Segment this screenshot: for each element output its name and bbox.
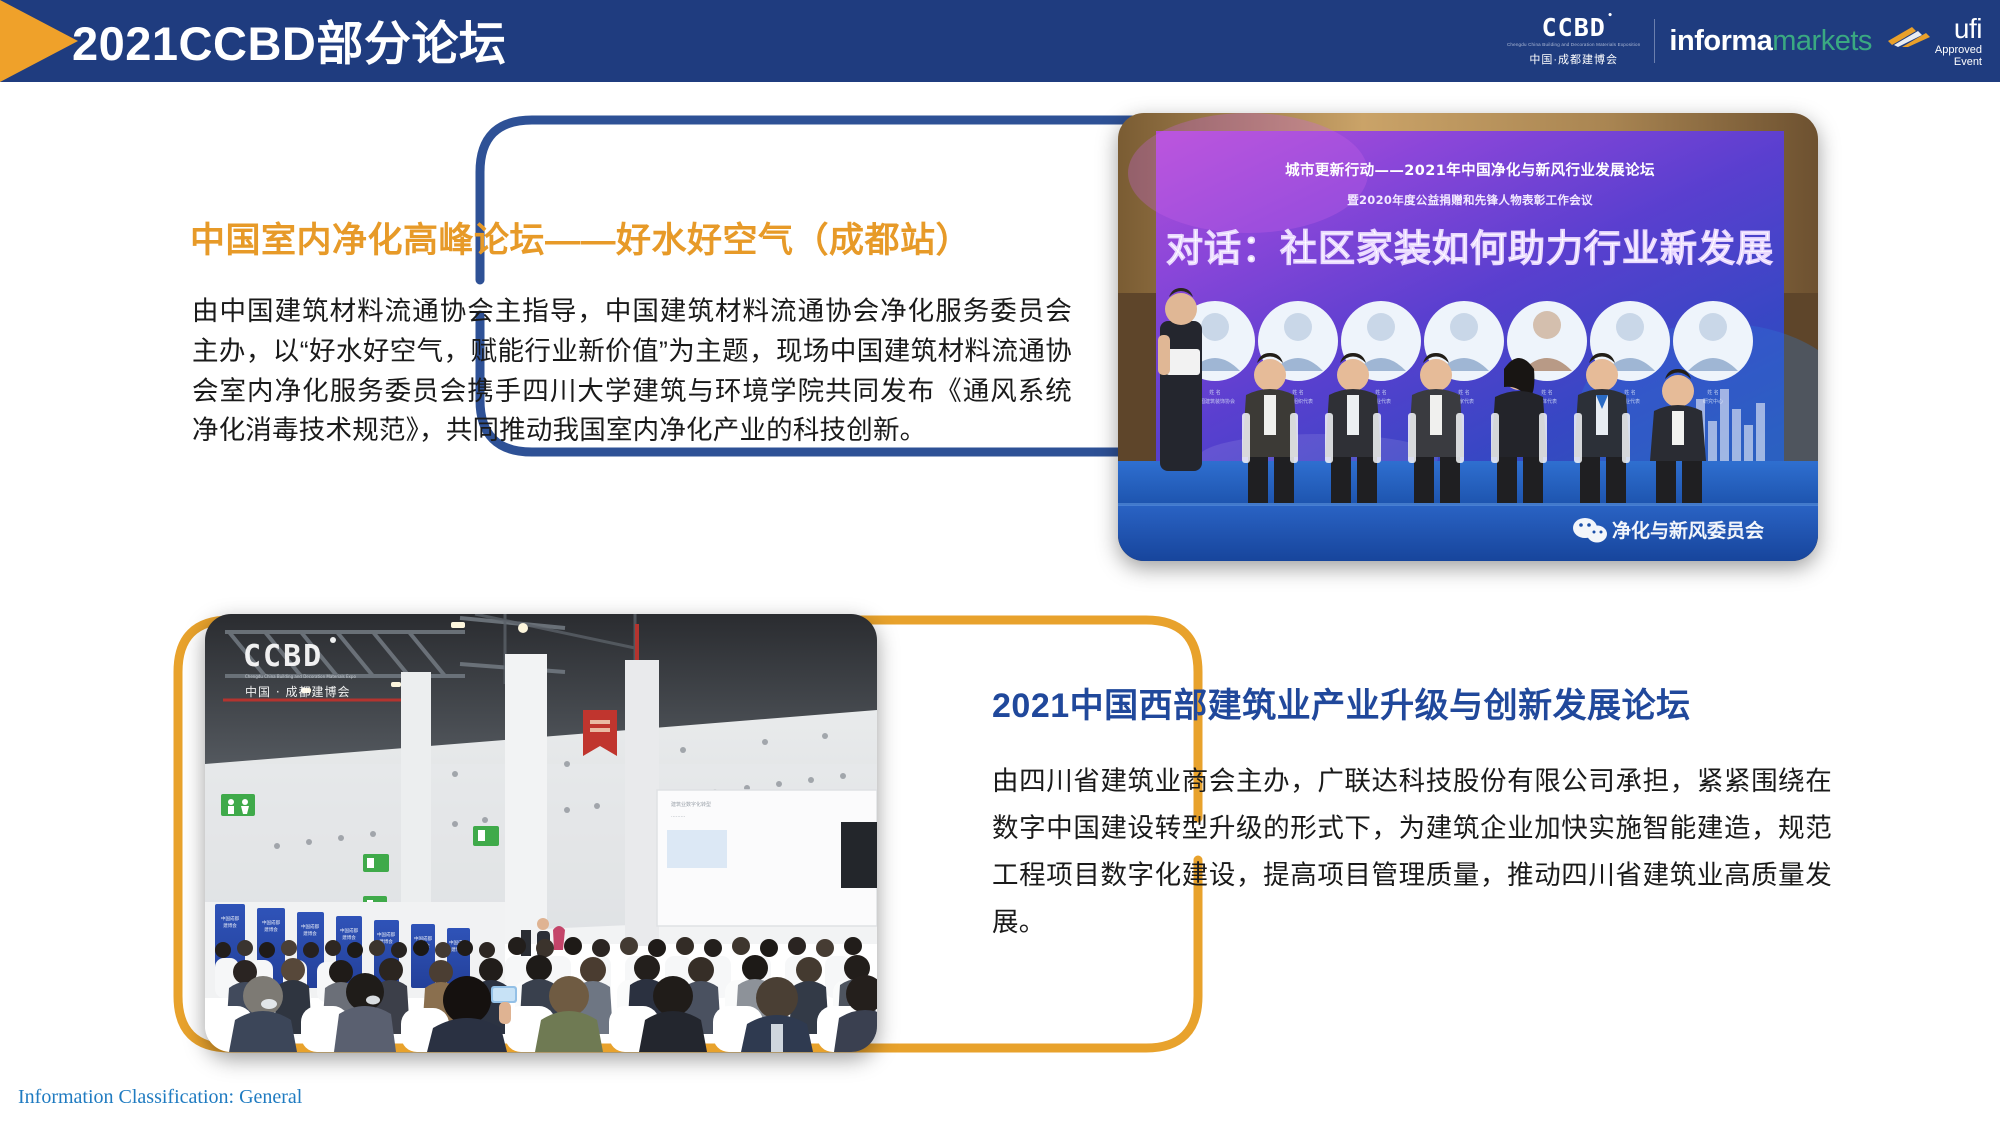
svg-text:建博会: 建博会 (342, 934, 356, 941)
ufi-swoosh-icon (1886, 21, 1932, 47)
svg-text:中国成都: 中国成都 (340, 927, 358, 934)
ccbd-watermark-mark: CCBD (243, 639, 323, 674)
ccbd-logo-mark: CCBD• (1542, 15, 1606, 40)
backdrop-headline: 对话：社区家装如何助力行业新发展 (1166, 227, 1774, 270)
informa-word: informa (1669, 25, 1772, 58)
svg-text:中国成都: 中国成都 (377, 931, 395, 938)
forum-1-description: 由中国建筑材料流通协会主指导，中国建筑材料流通协会净化服务委员会主办，以“好水好… (192, 292, 1072, 451)
ccbd-logo: CCBD• Chengdu China Building and Decorat… (1507, 15, 1640, 67)
svg-text:姓 名: 姓 名 (1541, 389, 1553, 396)
header-logo-group: CCBD• Chengdu China Building and Decorat… (1507, 10, 1982, 72)
ccbd-logo-english: Chengdu China Building and Decoration Ma… (1507, 42, 1640, 48)
ufi-event-label: Event (1954, 57, 1982, 68)
logo-divider (1654, 19, 1655, 63)
information-classification-label: Information Classification: General (18, 1086, 302, 1109)
svg-text:姓 名: 姓 名 (1209, 389, 1221, 396)
svg-text:姓 名: 姓 名 (1707, 389, 1719, 396)
svg-text:姓 名: 姓 名 (1375, 389, 1387, 396)
forum-1-title: 中国室内净化高峰论坛——好水好空气（成都站） (190, 212, 1080, 263)
backdrop-line-1: 城市更新行动——2021年中国净化与新风行业发展论坛 (1285, 161, 1655, 179)
forum-1-photo-image: 城市更新行动——2021年中国净化与新风行业发展论坛 暨2020年度公益捐赠和先… (1118, 113, 1818, 561)
forum-2-photo: CCBD Chengdu China Building and Decorati… (205, 614, 877, 1052)
header-arrow-icon (0, 0, 78, 82)
forum-1-photo: 城市更新行动——2021年中国净化与新风行业发展论坛 暨2020年度公益捐赠和先… (1118, 113, 1818, 561)
page-header: 2021CCBD部分论坛 CCBD• Chengdu China Buildin… (0, 0, 2000, 82)
forum-2-photo-image: CCBD Chengdu China Building and Decorati… (205, 614, 877, 1052)
svg-text:中国成都: 中国成都 (221, 915, 239, 922)
svg-text:建筑业数字化转型: 建筑业数字化转型 (671, 801, 711, 808)
svg-text:建博会: 建博会 (303, 930, 317, 937)
informa-markets-logo: informa markets (1669, 25, 1871, 58)
ufi-approved-label: Approved (1935, 45, 1982, 56)
svg-text:姓 名: 姓 名 (1292, 389, 1304, 396)
audience-crowd (205, 937, 877, 1052)
svg-text:中国成都: 中国成都 (301, 923, 319, 930)
forum-2-title: 2021中国西部建筑业产业升级与创新发展论坛 (992, 678, 1892, 727)
svg-text:建博会: 建博会 (264, 926, 278, 933)
ufi-word: ufi (1954, 15, 1982, 43)
wechat-watermark-label: 净化与新风委员会 (1612, 519, 1764, 542)
ufi-approved-event-logo: ufi Approved Event (1886, 15, 1982, 68)
ccbd-watermark-chinese: 中国 · 成都建博会 (245, 684, 350, 699)
svg-text:姓 名: 姓 名 (1624, 389, 1636, 396)
ccbd-logo-text: CCBD (1542, 13, 1606, 42)
markets-word: markets (1772, 25, 1872, 58)
page-title: 2021CCBD部分论坛 (72, 5, 506, 74)
ccbd-logo-chinese: 中国·成都建博会 (1529, 51, 1618, 67)
ccbd-trademark-icon: • (1607, 12, 1613, 21)
forum-2-description: 由四川省建筑业商会主办，广联达科技股份有限公司承担，紧紧围绕在数字中国建设转型升… (992, 758, 1832, 947)
svg-text:姓 名: 姓 名 (1458, 389, 1470, 396)
svg-text:·········: ········· (671, 814, 686, 820)
svg-text:Chengdu China Building and Dec: Chengdu China Building and Decoration Ma… (245, 674, 356, 679)
svg-text:建博会: 建博会 (223, 922, 237, 929)
backdrop-line-2: 暨2020年度公益捐赠和先锋人物表彰工作会议 (1347, 193, 1593, 207)
svg-text:中国成都: 中国成都 (262, 919, 280, 926)
